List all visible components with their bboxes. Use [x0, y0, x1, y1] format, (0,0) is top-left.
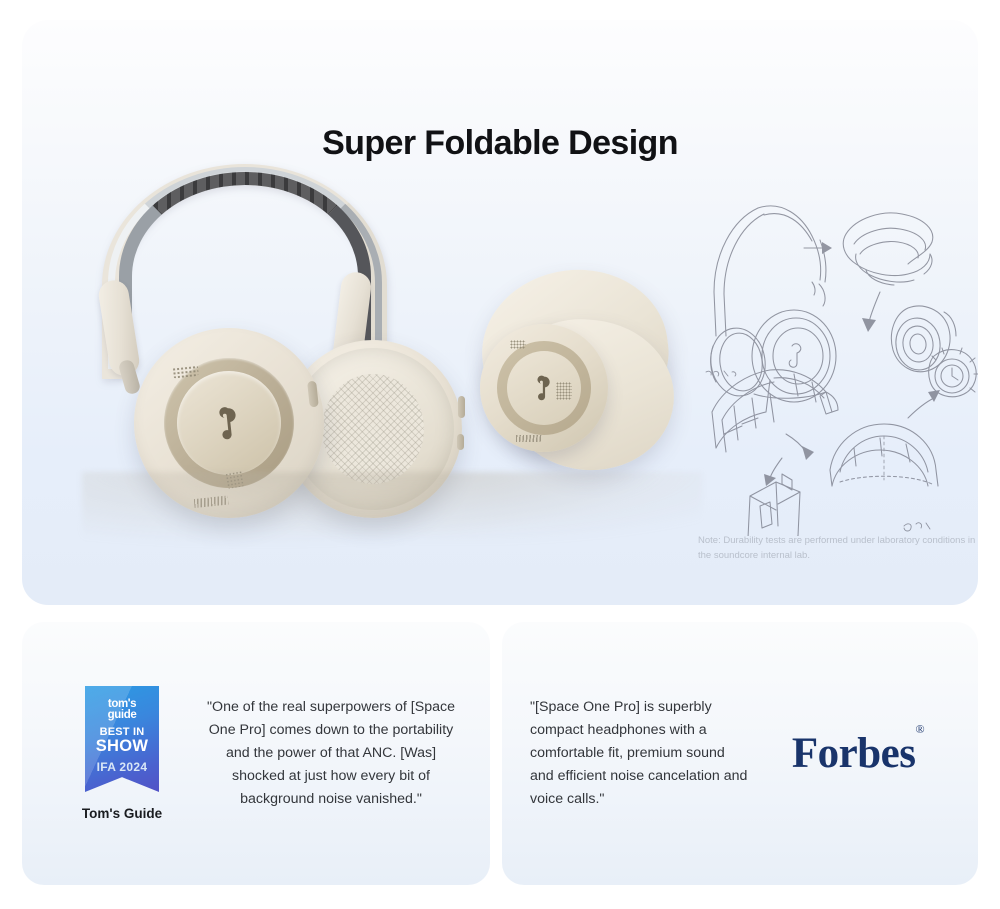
review-source-toms-guide: Tom's Guide	[46, 806, 198, 821]
forbes-logo-block: Forbes®	[758, 729, 958, 778]
microphone-grill-side	[556, 382, 572, 400]
design-sketch-illustration	[694, 196, 978, 536]
forbes-logo-icon: Forbes®	[792, 729, 924, 778]
wordmark-line-2: guide	[108, 709, 137, 721]
product-feature-page: Super Foldable Design	[0, 0, 1000, 909]
ear-mesh	[322, 374, 424, 484]
power-button[interactable]	[458, 396, 465, 418]
award-line-2: SHOW	[85, 737, 159, 756]
durability-note: Note: Durability tests are performed und…	[698, 534, 978, 563]
award-line-1: BEST IN	[85, 726, 159, 738]
wordmark-line-1: tom's	[108, 698, 136, 710]
product-reflection	[82, 472, 702, 558]
folded-brand-texture	[516, 435, 542, 442]
product-image-open-headphones	[84, 160, 454, 520]
microphone-grill-top	[510, 340, 526, 349]
volume-button[interactable]	[457, 434, 464, 450]
soundcore-logo-icon	[534, 375, 554, 401]
toms-guide-award: tom's guide BEST IN SHOW IFA 2024 Tom's …	[46, 686, 198, 821]
forbes-wordmark: Forbes	[792, 730, 916, 777]
folded-earcup	[480, 324, 608, 452]
registered-trademark-icon: ®	[915, 722, 924, 736]
soundcore-logo-icon	[214, 405, 243, 442]
review-card-toms-guide: tom's guide BEST IN SHOW IFA 2024 Tom's …	[22, 622, 490, 885]
review-card-forbes: "[Space One Pro] is superbly compact hea…	[502, 622, 978, 885]
toms-guide-wordmark: tom's guide	[85, 699, 159, 721]
hero-card: Super Foldable Design	[22, 20, 978, 605]
review-quote-forbes: "[Space One Pro] is superbly compact hea…	[530, 696, 758, 811]
award-event: IFA 2024	[85, 760, 159, 774]
best-in-show-badge-icon: tom's guide BEST IN SHOW IFA 2024	[85, 686, 159, 792]
product-image-folded-headphones	[474, 268, 684, 483]
review-quote-toms-guide: "One of the real superpowers of [Space O…	[198, 696, 464, 811]
